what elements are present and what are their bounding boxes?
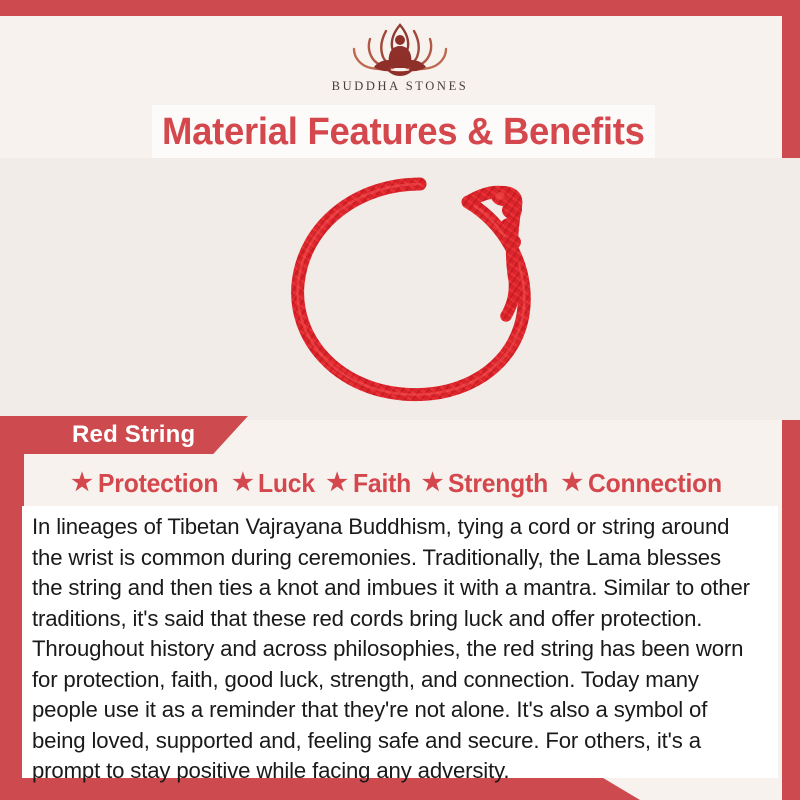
lotus-meditation-icon bbox=[334, 16, 466, 78]
description-block: In lineages of Tibetan Vajrayana Buddhis… bbox=[22, 506, 778, 778]
page-title-plate: Material Features & Benefits bbox=[152, 105, 655, 159]
benefit-label: Strength bbox=[448, 468, 548, 499]
brand-header: BUDDHA STONES bbox=[0, 16, 800, 104]
left-accent-strip-lower bbox=[0, 430, 24, 800]
product-photo bbox=[0, 158, 800, 420]
benefit-item: ★ Protection bbox=[71, 468, 224, 499]
top-accent-bar bbox=[0, 0, 800, 16]
star-icon: ★ bbox=[326, 471, 347, 495]
page-title: Material Features & Benefits bbox=[162, 113, 645, 151]
star-icon: ★ bbox=[232, 471, 253, 495]
red-string-bracelet-image bbox=[262, 166, 562, 416]
brand-wordmark: BUDDHA STONES bbox=[332, 79, 469, 94]
benefit-item: ★ Strength bbox=[422, 468, 554, 499]
benefit-label: Protection bbox=[98, 468, 218, 499]
benefit-label: Luck bbox=[258, 468, 315, 499]
benefit-label: Connection bbox=[588, 468, 722, 499]
benefit-item: ★ Luck bbox=[232, 468, 318, 499]
benefit-label: Faith bbox=[353, 468, 411, 499]
material-name: Red String bbox=[72, 421, 195, 449]
star-icon: ★ bbox=[71, 471, 92, 495]
benefit-item: ★ Connection bbox=[561, 468, 728, 499]
material-ribbon: Red String bbox=[0, 416, 248, 454]
benefit-item: ★ Faith bbox=[326, 468, 413, 499]
infographic-canvas: BUDDHA STONES Material Features & Benefi… bbox=[0, 0, 800, 800]
star-icon: ★ bbox=[422, 471, 443, 495]
star-icon: ★ bbox=[561, 471, 582, 495]
benefits-list: ★ Protection ★ Luck ★ Faith ★ Strength ★… bbox=[22, 463, 778, 503]
description-text: In lineages of Tibetan Vajrayana Buddhis… bbox=[32, 512, 755, 787]
